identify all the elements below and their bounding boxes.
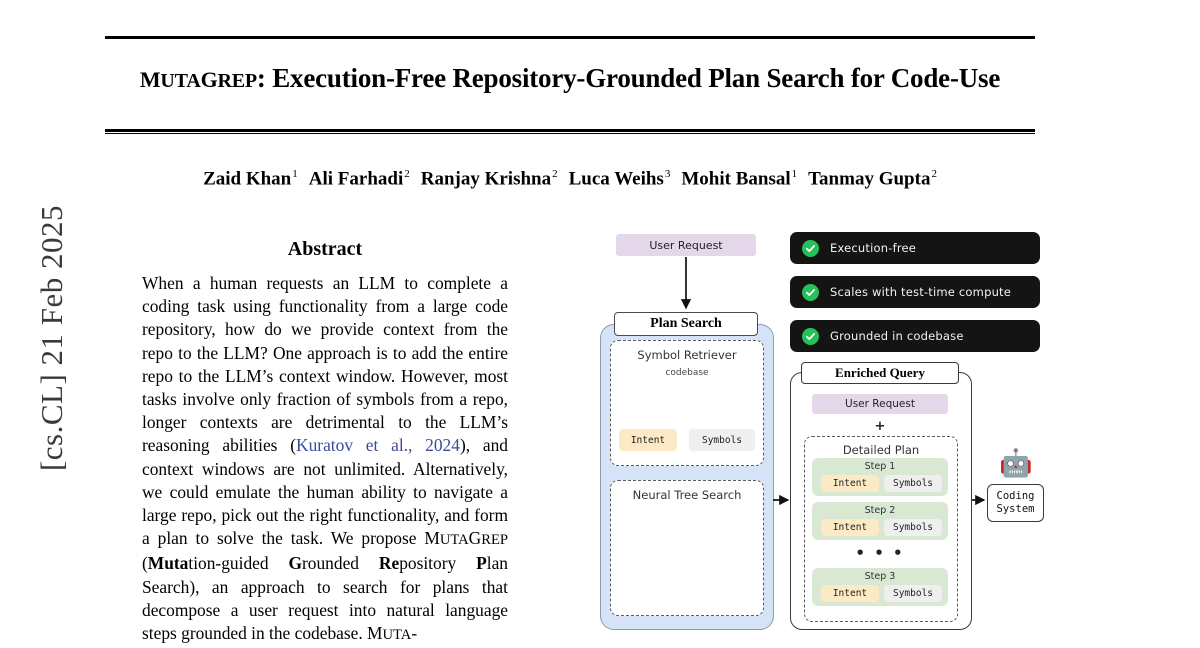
abstract-text-9: - (411, 623, 417, 643)
author-name: Ranjay Krishna (421, 168, 551, 189)
enriched-query-header: Enriched Query (801, 362, 959, 384)
robot-icon: 🤖 (988, 450, 1044, 477)
coding-system-box: Coding System (987, 484, 1044, 522)
step-card: Step 2 Intent Symbols (812, 502, 948, 540)
coding-system-line2: System (997, 503, 1035, 516)
abstract-text-1: When a human requests an LLM to complete… (142, 273, 508, 455)
title-rep: REP (218, 70, 257, 92)
author-name: Luca Weihs (569, 168, 664, 189)
title-uta: UTA (160, 70, 200, 92)
author-affiliation: 2 (403, 168, 410, 180)
badge-label: Scales with test-time compute (830, 285, 1011, 299)
coding-system-line1: Coding (997, 490, 1035, 503)
abstract-bold-muta: Muta (148, 553, 189, 573)
author-affiliation: 1 (791, 168, 798, 180)
neural-tree-search-box: Neural Tree Search (610, 480, 764, 616)
arxiv-stamp: [cs.CL] 21 Feb 2025 (34, 198, 70, 478)
abstract-heading: Abstract (140, 238, 510, 261)
neural-tree-search-title: Neural Tree Search (611, 488, 763, 502)
badge-execution-free: Execution-free (790, 232, 1040, 264)
check-circle-icon (802, 240, 819, 257)
plan-search-label: Plan Search (614, 312, 758, 336)
abstract-text-3: G (469, 528, 482, 548)
title-rule-top (105, 36, 1035, 39)
badge-label: Execution-free (830, 241, 916, 255)
author-name: Ali Farhadi (309, 168, 403, 189)
check-circle-icon (802, 284, 819, 301)
step-symbols-pill: Symbols (884, 519, 942, 536)
author-affiliation: 1 (291, 168, 298, 180)
citation-link[interactable]: Kuratov et al., 2024 (296, 435, 460, 455)
step-symbols-pill: Symbols (884, 585, 942, 602)
steps-ellipsis: • • • (812, 544, 948, 562)
author-list: Zaid Khan1Ali Farhadi2Ranjay Krishna2Luc… (105, 168, 1035, 190)
badge-scales-compute: Scales with test-time compute (790, 276, 1040, 308)
enriched-query-user-request: User Request (812, 394, 948, 414)
abstract-smallcaps-rep: REP (481, 532, 508, 548)
author-affiliation: 3 (664, 168, 671, 180)
detailed-plan-title: Detailed Plan (805, 443, 957, 457)
title-rule-bottom (105, 129, 1035, 132)
author-name: Zaid Khan (203, 168, 291, 189)
step-card: Step 3 Intent Symbols (812, 568, 948, 606)
step-title: Step 3 (812, 571, 948, 582)
abstract-smallcaps-uta-2: UTA (383, 627, 412, 643)
abstract-smallcaps-uta: UTA (440, 532, 469, 548)
symbol-retriever-title: Symbol Retriever (611, 348, 763, 362)
title-smallcap-m: M (140, 67, 161, 92)
user-request-input: User Request (616, 234, 756, 256)
step-title: Step 1 (812, 461, 948, 472)
abstract-text-5: tion-guided (188, 553, 288, 573)
step-title: Step 2 (812, 505, 948, 516)
step-intent-pill: Intent (821, 519, 879, 536)
check-circle-icon (802, 328, 819, 345)
abstract-bold-re: Re (379, 553, 399, 573)
codebase-label: codebase (611, 368, 763, 378)
author-affiliation: 2 (930, 168, 937, 180)
title-smallcap-g: G (201, 67, 218, 92)
title-tail: : Execution-Free Repository-Grounded Pla… (257, 63, 1000, 93)
architecture-figure: User Request Plan Search Symbol Retrieve… (560, 228, 1180, 648)
badge-label: Grounded in codebase (830, 329, 964, 343)
author-name: Tanmay Gupta (808, 168, 930, 189)
abstract-bold-p: P (476, 553, 487, 573)
page-title: MUTAGREP: Execution-Free Repository-Grou… (105, 62, 1035, 94)
step-intent-pill: Intent (821, 475, 879, 492)
abstract-text-6: rounded (302, 553, 379, 573)
author-name: Mohit Bansal (681, 168, 790, 189)
symbol-retriever-box: Symbol Retriever codebase Intent Symbols (610, 340, 764, 466)
paper-page: [cs.CL] 21 Feb 2025 MUTAGREP: Execution-… (0, 0, 1200, 648)
badge-grounded-codebase: Grounded in codebase (790, 320, 1040, 352)
intent-pill: Intent (619, 429, 677, 451)
step-intent-pill: Intent (821, 585, 879, 602)
abstract-bold-g: G (288, 553, 302, 573)
abstract-body: When a human requests an LLM to complete… (142, 272, 508, 647)
abstract-text-7: pository (399, 553, 476, 573)
step-card: Step 1 Intent Symbols (812, 458, 948, 496)
symbols-pill: Symbols (689, 429, 755, 451)
plus-symbol: + (790, 418, 970, 434)
author-affiliation: 2 (551, 168, 558, 180)
step-symbols-pill: Symbols (884, 475, 942, 492)
